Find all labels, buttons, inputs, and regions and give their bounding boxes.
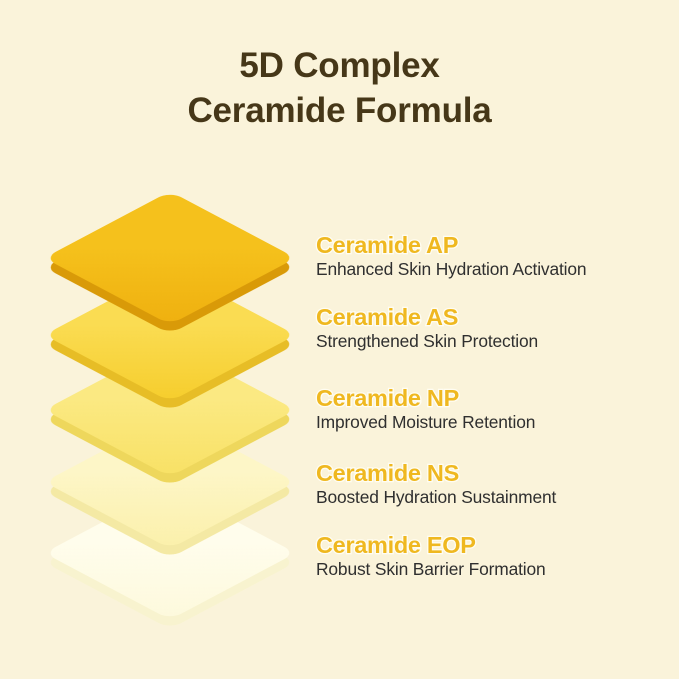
- ceramide-entry-description: Strengthened Skin Protection: [316, 331, 679, 352]
- layer-ceramide-ap: [81, 169, 259, 347]
- ceramide-entry: Ceramide NSBoosted Hydration Sustainment: [316, 461, 679, 508]
- ceramide-entry-title: Ceramide NP: [316, 386, 679, 411]
- ceramide-entry: Ceramide NPImproved Moisture Retention: [316, 386, 679, 433]
- ceramide-entry-list: Ceramide APEnhanced Skin Hydration Activ…: [316, 0, 679, 679]
- ceramide-entry-title: Ceramide NS: [316, 461, 679, 486]
- ceramide-entry-description: Enhanced Skin Hydration Activation: [316, 259, 679, 280]
- ceramide-entry: Ceramide ASStrengthened Skin Protection: [316, 305, 679, 352]
- ceramide-entry-description: Improved Moisture Retention: [316, 412, 679, 433]
- ceramide-entry: Ceramide EOPRobust Skin Barrier Formatio…: [316, 533, 679, 580]
- layer-ceramide-ap-top-face: [44, 191, 296, 324]
- ceramide-entry-description: Boosted Hydration Sustainment: [316, 487, 679, 508]
- ceramide-entry: Ceramide APEnhanced Skin Hydration Activ…: [316, 233, 679, 280]
- ceramide-entry-description: Robust Skin Barrier Formation: [316, 559, 679, 580]
- ceramide-entry-title: Ceramide AS: [316, 305, 679, 330]
- infographic-canvas: 5D Complex Ceramide Formula Ceramide APE…: [0, 0, 679, 679]
- layer-ceramide-ap-slab: [44, 191, 296, 324]
- ceramide-layer-stack: [0, 0, 340, 679]
- ceramide-entry-title: Ceramide EOP: [316, 533, 679, 558]
- ceramide-entry-title: Ceramide AP: [316, 233, 679, 258]
